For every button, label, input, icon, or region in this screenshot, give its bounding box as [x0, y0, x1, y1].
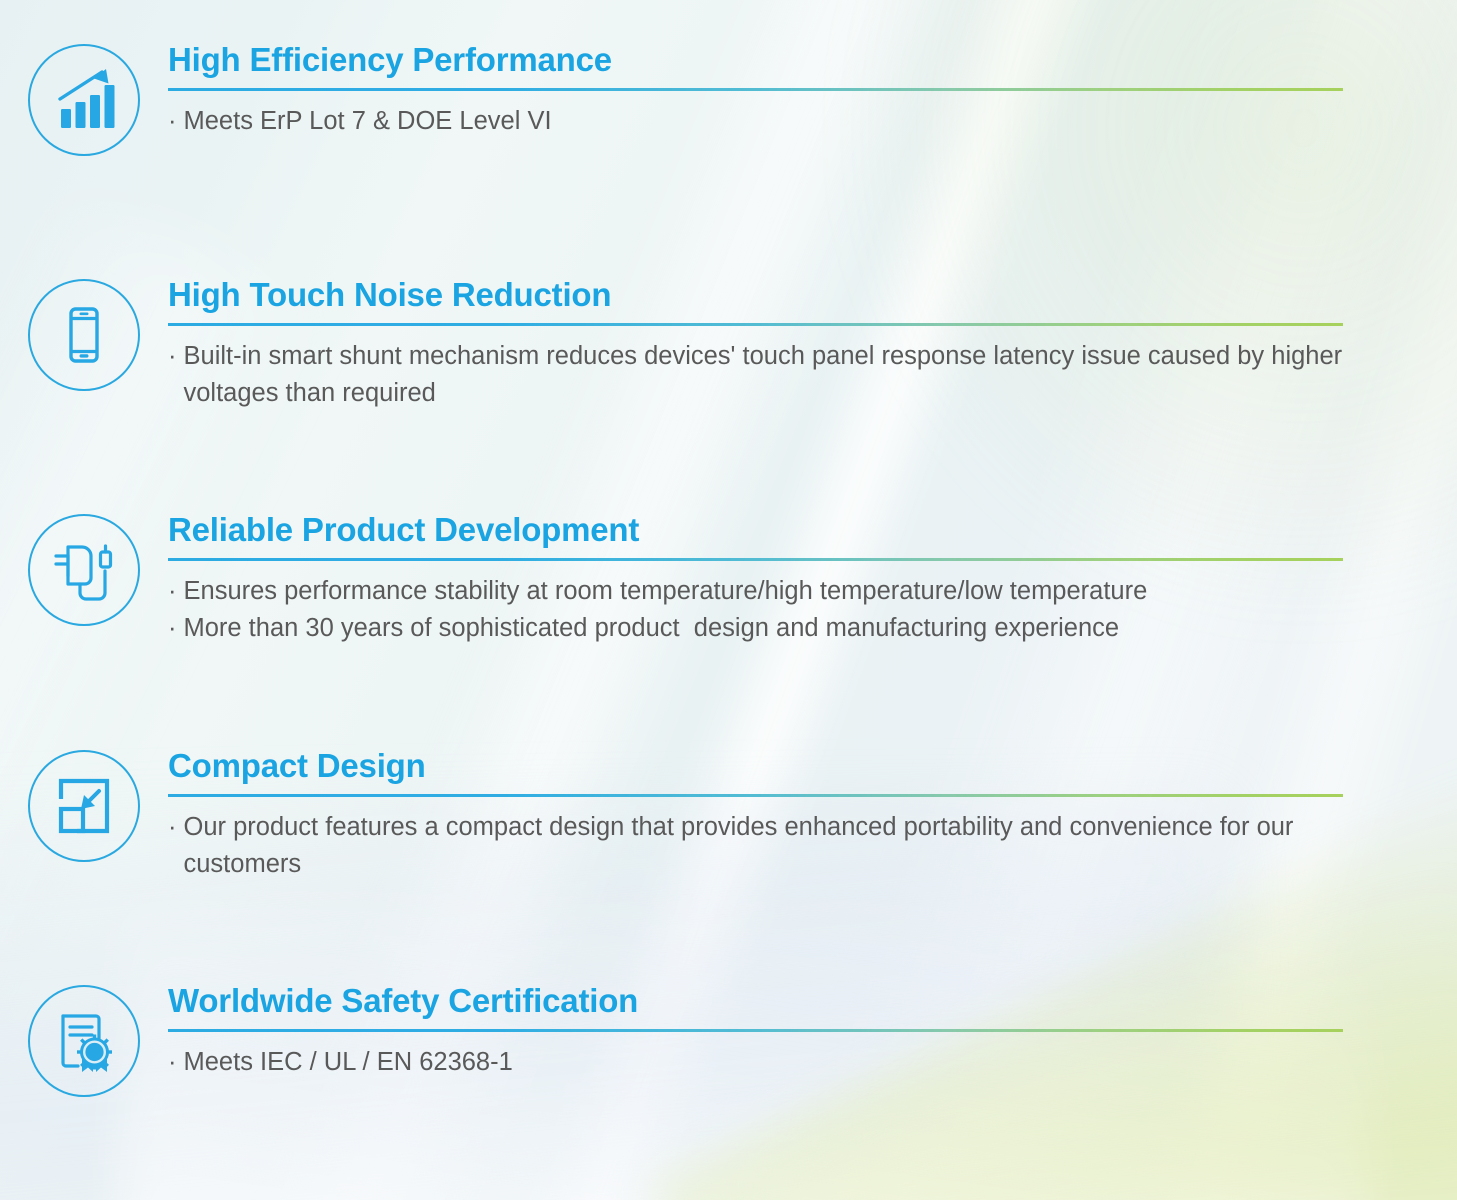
- feature-body: Compact Design · Our product features a …: [168, 748, 1457, 883]
- feature-bullet: · More than 30 years of sophisticated pr…: [168, 610, 1417, 647]
- feature-bullets: · Our product features a compact design …: [168, 809, 1417, 883]
- feature-bullet: · Meets IEC / UL / EN 62368-1: [168, 1044, 1417, 1081]
- feature-divider: [168, 88, 1343, 91]
- feature-item-compact-design: Compact Design · Our product features a …: [0, 748, 1457, 883]
- feature-divider: [168, 558, 1343, 561]
- feature-body: Worldwide Safety Certification · Meets I…: [168, 983, 1457, 1081]
- bar-chart-growth-icon: [28, 44, 140, 156]
- bullet-marker: ·: [168, 573, 177, 610]
- smartphone-icon: [28, 279, 140, 391]
- feature-icon-wrap: [0, 42, 168, 156]
- bullet-marker: ·: [168, 338, 177, 375]
- feature-divider: [168, 794, 1343, 797]
- feature-bullets: · Ensures performance stability at room …: [168, 573, 1417, 647]
- feature-body: High Efficiency Performance · Meets ErP …: [168, 42, 1457, 140]
- feature-icon-wrap: [0, 277, 168, 391]
- feature-title: High Efficiency Performance: [168, 42, 1417, 79]
- feature-body: High Touch Noise Reduction · Built-in sm…: [168, 277, 1457, 412]
- feature-bullet: · Meets ErP Lot 7 & DOE Level VI: [168, 103, 1417, 140]
- feature-bullets: · Meets ErP Lot 7 & DOE Level VI: [168, 103, 1417, 140]
- compress-shrink-icon: [28, 750, 140, 862]
- feature-item-reliable-product-development: Reliable Product Development · Ensures p…: [0, 512, 1457, 647]
- feature-title: High Touch Noise Reduction: [168, 277, 1417, 314]
- feature-list: High Efficiency Performance · Meets ErP …: [0, 0, 1457, 1200]
- bullet-text: Meets IEC / UL / EN 62368-1: [184, 1044, 1418, 1081]
- bullet-marker: ·: [168, 103, 177, 140]
- feature-icon-wrap: [0, 512, 168, 626]
- bullet-marker: ·: [168, 809, 177, 846]
- bullet-marker: ·: [168, 1044, 177, 1081]
- bullet-text: More than 30 years of sophisticated prod…: [184, 610, 1418, 647]
- feature-title: Reliable Product Development: [168, 512, 1417, 549]
- feature-item-high-efficiency-performance: High Efficiency Performance · Meets ErP …: [0, 42, 1457, 156]
- feature-divider: [168, 1029, 1343, 1032]
- feature-bullet: · Built-in smart shunt mechanism reduces…: [168, 338, 1417, 412]
- feature-divider: [168, 323, 1343, 326]
- power-adapter-icon: [28, 514, 140, 626]
- feature-icon-wrap: [0, 748, 168, 862]
- feature-item-high-touch-noise-reduction: High Touch Noise Reduction · Built-in sm…: [0, 277, 1457, 412]
- feature-bullets: · Built-in smart shunt mechanism reduces…: [168, 338, 1417, 412]
- feature-title: Worldwide Safety Certification: [168, 983, 1417, 1020]
- certificate-award-icon: [28, 985, 140, 1097]
- bullet-text: Built-in smart shunt mechanism reduces d…: [184, 338, 1418, 412]
- feature-bullets: · Meets IEC / UL / EN 62368-1: [168, 1044, 1417, 1081]
- bullet-text: Our product features a compact design th…: [184, 809, 1418, 883]
- feature-body: Reliable Product Development · Ensures p…: [168, 512, 1457, 647]
- bullet-text: Ensures performance stability at room te…: [184, 573, 1418, 610]
- feature-icon-wrap: [0, 983, 168, 1097]
- feature-item-worldwide-safety-certification: Worldwide Safety Certification · Meets I…: [0, 983, 1457, 1097]
- bullet-marker: ·: [168, 610, 177, 647]
- feature-title: Compact Design: [168, 748, 1417, 785]
- bullet-text: Meets ErP Lot 7 & DOE Level VI: [184, 103, 1418, 140]
- feature-bullet: · Our product features a compact design …: [168, 809, 1417, 883]
- feature-bullet: · Ensures performance stability at room …: [168, 573, 1417, 610]
